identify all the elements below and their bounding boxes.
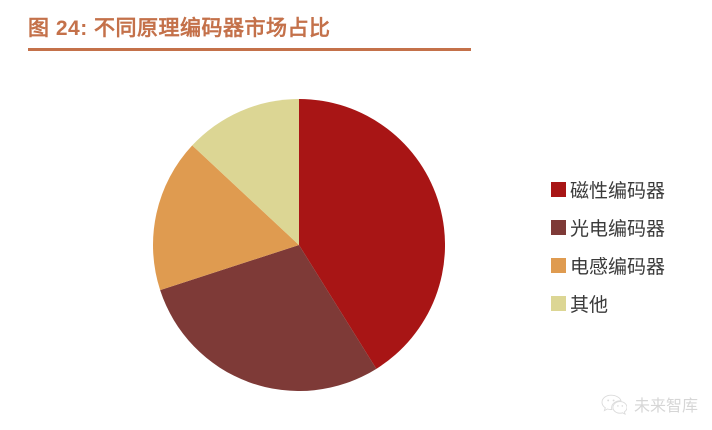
legend-item[interactable]: 磁性编码器 <box>551 170 701 208</box>
title-divider <box>28 48 471 51</box>
legend-swatch <box>551 182 566 197</box>
legend-swatch <box>551 296 566 311</box>
watermark: 未来智库 <box>601 392 698 416</box>
wechat-logo-icon <box>601 393 627 415</box>
legend-swatch <box>551 258 566 273</box>
legend-label: 光电编码器 <box>570 214 665 241</box>
legend-item[interactable]: 其他 <box>551 284 701 322</box>
legend-label: 电感编码器 <box>570 252 665 279</box>
pie-svg <box>153 99 445 391</box>
chart-legend: 磁性编码器光电编码器电感编码器其他 <box>551 170 701 322</box>
watermark-label: 未来智库 <box>634 392 698 416</box>
figure-title-block: 图 24: 不同原理编码器市场占比 <box>28 14 478 51</box>
legend-swatch <box>551 220 566 235</box>
pie-chart: 磁性编码器光电编码器电感编码器其他 <box>0 60 712 430</box>
legend-item[interactable]: 光电编码器 <box>551 208 701 246</box>
page-title: 图 24: 不同原理编码器市场占比 <box>28 14 478 44</box>
legend-label: 磁性编码器 <box>570 176 665 203</box>
legend-label: 其他 <box>570 290 608 317</box>
legend-item[interactable]: 电感编码器 <box>551 246 701 284</box>
pie-canvas <box>153 99 445 391</box>
pie-slice-group <box>153 99 445 391</box>
